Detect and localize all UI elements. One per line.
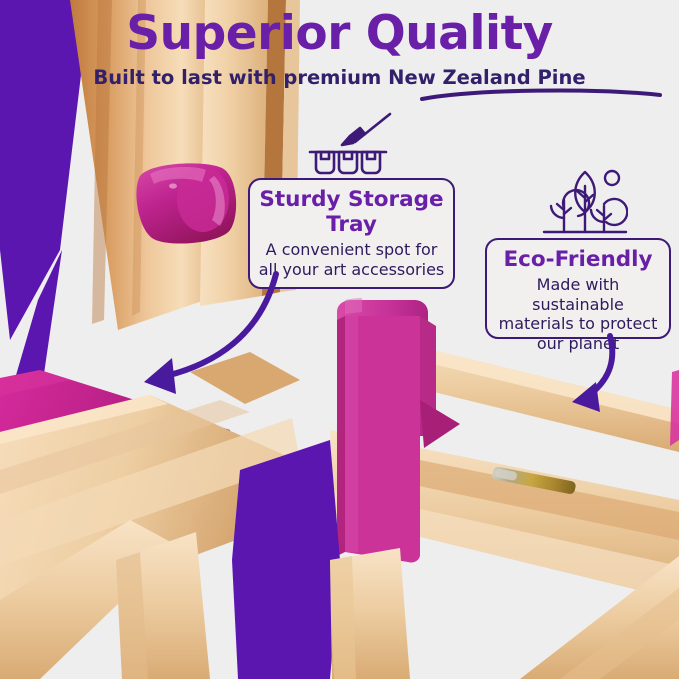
page-subtitle: Built to last with premium New Zealand P… xyxy=(0,66,679,90)
magenta-knob-cap xyxy=(136,163,236,243)
hand-drawn-underline-icon xyxy=(416,88,666,104)
callout-tray-arrow-icon xyxy=(110,258,280,403)
callout-eco-heading: Eco-Friendly xyxy=(495,247,661,272)
header: Superior Quality Built to last with prem… xyxy=(0,8,679,90)
callout-tray-body: A convenient spot for all your art acces… xyxy=(258,240,445,279)
paint-cups-with-brush-icon xyxy=(302,112,398,178)
callout-eco-box: Eco-Friendly Made with sustainable mater… xyxy=(485,238,671,339)
page-title: Superior Quality xyxy=(0,8,679,60)
callout-eco-arrow-icon xyxy=(548,330,638,430)
infographic-canvas: Superior Quality Built to last with prem… xyxy=(0,0,679,679)
callout-tray-heading: Sturdy Storage Tray xyxy=(258,187,445,237)
trees-with-sun-icon xyxy=(542,166,628,240)
